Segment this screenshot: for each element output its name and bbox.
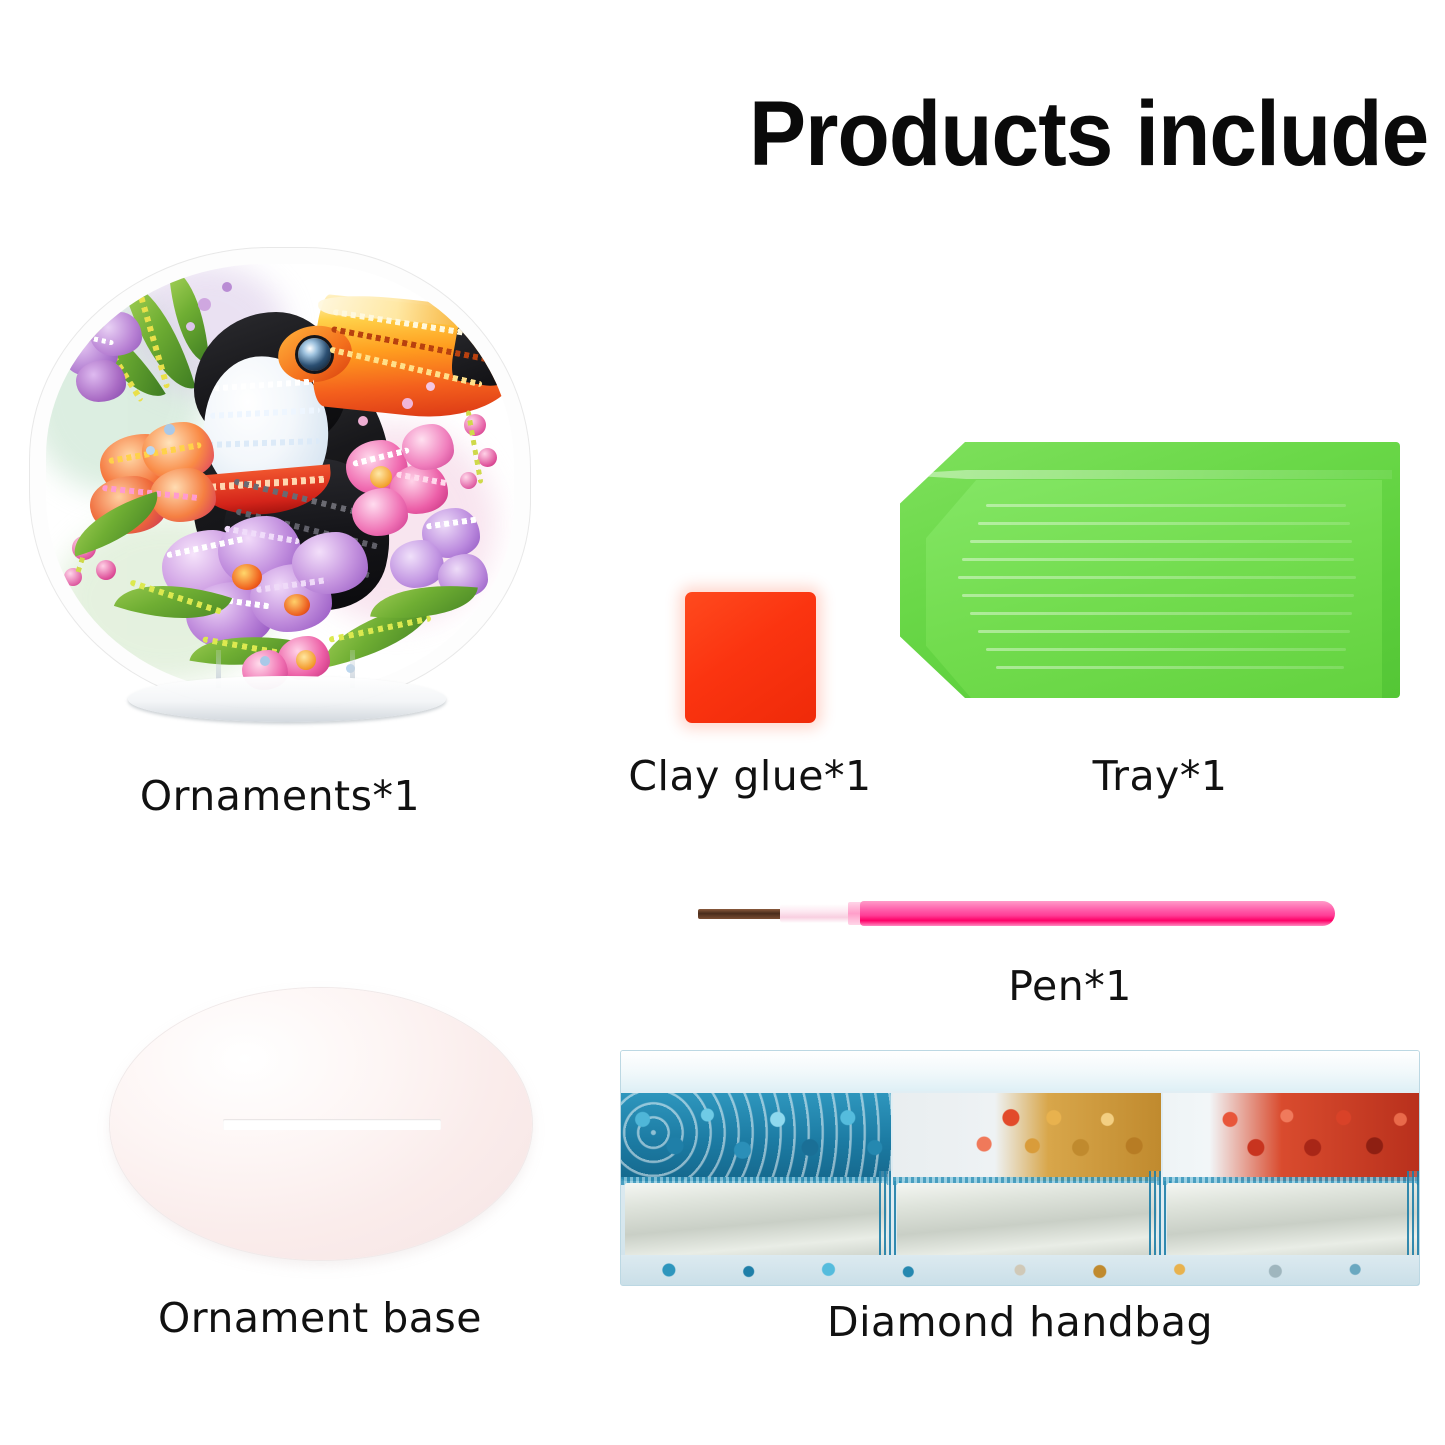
pink-drill-pen-icon (860, 901, 1335, 926)
ornament-base-slot (223, 1119, 441, 1130)
caption-clay-glue: Clay glue*1 (600, 752, 900, 800)
product-clay-glue (660, 575, 840, 755)
product-ornament-base (100, 980, 550, 1270)
tray-inner-well (926, 480, 1382, 704)
product-pen (660, 880, 1360, 950)
clay-glue-square-icon (685, 592, 816, 723)
tray-rim-highlight (908, 470, 1392, 479)
bag-section-red (1163, 1051, 1420, 1286)
toucan-eye (298, 338, 331, 371)
caption-ornaments: Ornaments*1 (20, 772, 540, 820)
caption-ornament-base: Ornament base (90, 1294, 550, 1342)
caption-diamond-handbag: Diamond handbag (620, 1298, 1420, 1346)
green-drill-tray-icon (900, 442, 1400, 698)
toucan-acrylic-ornament-icon (46, 264, 514, 692)
pen-metal-tip-icon (698, 909, 786, 919)
oval-ornament-base-icon (110, 988, 532, 1260)
product-diamond-handbag (620, 1050, 1420, 1290)
caption-tray: Tray*1 (1000, 752, 1320, 800)
product-tray (900, 420, 1420, 720)
products-include-infographic: Products include (0, 0, 1445, 1445)
bag-section-teal (621, 1051, 891, 1286)
ornament-stand-plate (128, 676, 446, 722)
caption-pen: Pen*1 (910, 962, 1230, 1010)
product-ornaments (20, 240, 540, 740)
page-title: Products include (101, 88, 1445, 180)
diamond-rhinestone-bag-icon (620, 1050, 1420, 1286)
bag-section-gold (893, 1051, 1161, 1286)
